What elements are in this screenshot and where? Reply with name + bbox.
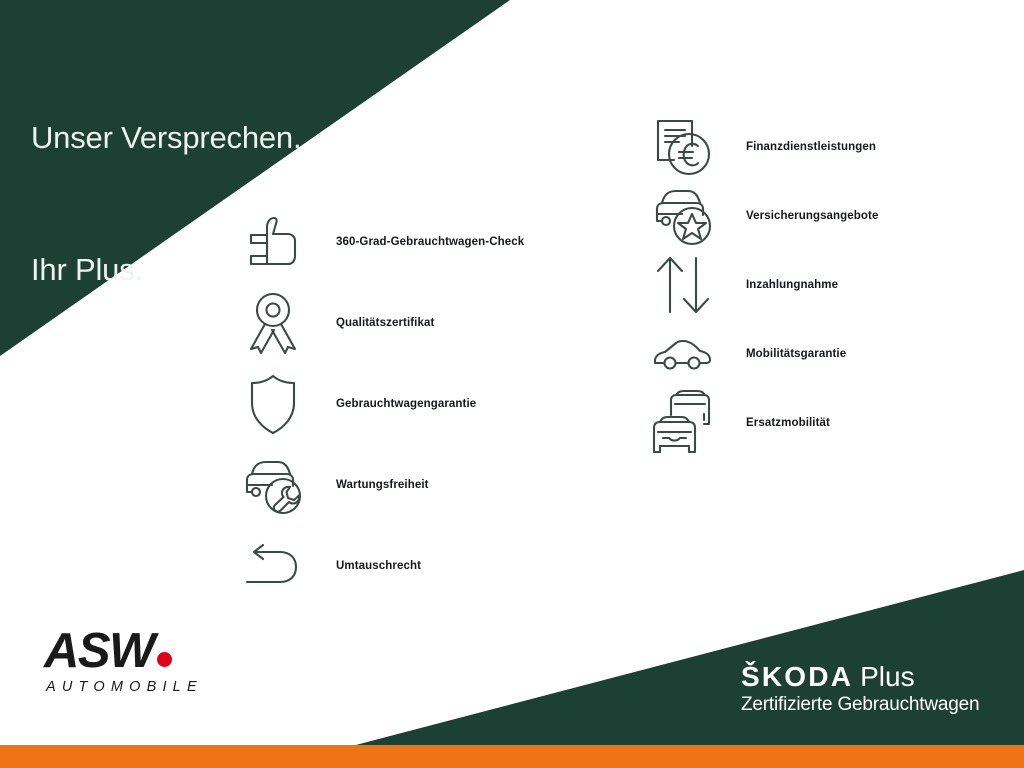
orange-footer-bar bbox=[0, 745, 1024, 768]
skoda-brand-line: ŠKODAPlus bbox=[741, 662, 979, 692]
asw-wordmark-text: ASW bbox=[44, 624, 154, 678]
benefit-label: 360-Grad-Gebrauchtwagen-Check bbox=[336, 236, 524, 248]
benefits-right-column: Finanzdienstleistungen Versicherungsange… bbox=[650, 115, 878, 460]
rosette-award-icon bbox=[240, 291, 306, 355]
skoda-plus-logo: ŠKODAPlus Zertifizierte Gebrauchtwagen bbox=[741, 662, 979, 716]
benefit-label: Versicherungsangebote bbox=[746, 210, 878, 222]
asw-subtitle: AUTOMOBILE bbox=[46, 679, 224, 695]
asw-logo: ASW AUTOMOBILE bbox=[44, 625, 224, 695]
benefit-item-quality-certificate: Qualitätszertifikat bbox=[240, 291, 524, 355]
skoda-tagline: Zertifizierte Gebrauchtwagen bbox=[741, 693, 979, 716]
benefit-item-replacement-mobility: Ersatzmobilität bbox=[650, 391, 878, 455]
headline-line-1: Unser Versprechen. bbox=[31, 116, 301, 160]
benefit-item-insurance: Versicherungsangebote bbox=[650, 184, 878, 248]
benefit-item-maintenance: Wartungsfreiheit bbox=[240, 453, 524, 517]
car-star-icon bbox=[650, 184, 716, 248]
promo-banner: Unser Versprechen. Ihr Plus. 360-Grad-Ge… bbox=[0, 0, 1024, 768]
two-cars-icon bbox=[650, 391, 716, 455]
asw-red-dot-icon bbox=[157, 652, 172, 667]
benefits-left-column: 360-Grad-Gebrauchtwagen-Check Qualitätsz… bbox=[240, 210, 524, 615]
benefit-label: Umtauschrecht bbox=[336, 560, 421, 572]
benefit-item-trade-in: Inzahlungnahme bbox=[650, 253, 878, 317]
benefit-item-mobility-guarantee: Mobilitätsgarantie bbox=[650, 322, 878, 386]
benefit-label: Gebrauchtwagengarantie bbox=[336, 398, 476, 410]
document-euro-icon bbox=[650, 115, 716, 179]
car-wrench-icon bbox=[240, 453, 306, 517]
return-arrow-icon bbox=[240, 534, 306, 598]
benefit-item-financial-services: Finanzdienstleistungen bbox=[650, 115, 878, 179]
thumbs-up-icon bbox=[240, 210, 306, 274]
benefit-label: Wartungsfreiheit bbox=[336, 479, 429, 491]
shield-icon bbox=[240, 372, 306, 436]
benefit-label: Mobilitätsgarantie bbox=[746, 348, 846, 360]
skoda-brand-text: ŠKODA bbox=[741, 661, 853, 692]
up-down-arrows-icon bbox=[650, 253, 716, 317]
benefit-label: Finanzdienstleistungen bbox=[746, 141, 876, 153]
asw-wordmark: ASW bbox=[44, 625, 224, 677]
benefit-label: Ersatzmobilität bbox=[746, 417, 830, 429]
benefit-item-return-right: Umtauschrecht bbox=[240, 534, 524, 598]
benefit-item-360-check: 360-Grad-Gebrauchtwagen-Check bbox=[240, 210, 524, 274]
benefit-item-warranty: Gebrauchtwagengarantie bbox=[240, 372, 524, 436]
car-side-icon bbox=[650, 322, 716, 386]
skoda-plus-text: Plus bbox=[860, 661, 914, 692]
benefit-label: Qualitätszertifikat bbox=[336, 317, 434, 329]
benefit-label: Inzahlungnahme bbox=[746, 279, 838, 291]
